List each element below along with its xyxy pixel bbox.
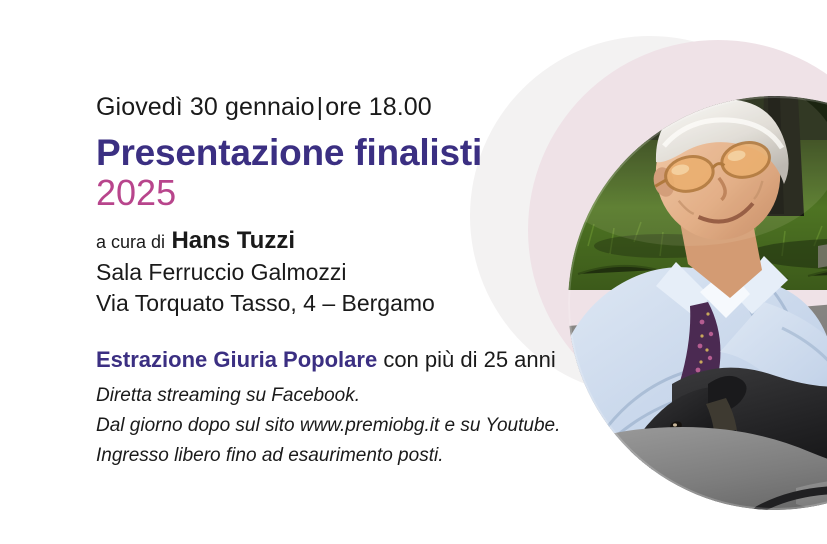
event-poster: Giovedì 30 gennaio|ore 18.00 Presentazio…: [0, 0, 827, 544]
curator-prefix: a cura di: [96, 232, 165, 252]
datetime-separator: |: [315, 93, 326, 121]
entry-note: Ingresso libero fino ad esaurimento post…: [96, 441, 566, 471]
venue-hall: Sala Ferruccio Galmozzi: [96, 257, 566, 288]
venue-address: Via Torquato Tasso, 4 – Bergamo: [96, 288, 566, 319]
venue-block: a cura di Hans Tuzzi Sala Ferruccio Galm…: [96, 225, 566, 318]
streaming-note: Diretta streaming su Facebook.: [96, 381, 566, 411]
poster-text-column: Giovedì 30 gennaio|ore 18.00 Presentazio…: [96, 92, 566, 471]
event-time: ore 18.00: [325, 93, 432, 121]
jury-draw-condition: con più di 25 anni: [383, 347, 555, 372]
jury-draw-line: Estrazione Giuria Popolare con più di 25…: [96, 346, 566, 375]
curator-line: a cura di Hans Tuzzi: [96, 225, 566, 257]
replay-note: Dal giorno dopo sul sito www.premiobg.it…: [96, 411, 566, 441]
page-title: Presentazione finalisti: [96, 134, 566, 171]
jury-draw-highlight: Estrazione Giuria Popolare: [96, 347, 377, 372]
event-datetime: Giovedì 30 gennaio|ore 18.00: [96, 92, 566, 123]
title-year: 2025: [96, 174, 566, 212]
curator-name: Hans Tuzzi: [171, 227, 295, 254]
info-block: Estrazione Giuria Popolare con più di 25…: [96, 346, 566, 471]
event-date: Giovedì 30 gennaio: [96, 93, 315, 121]
